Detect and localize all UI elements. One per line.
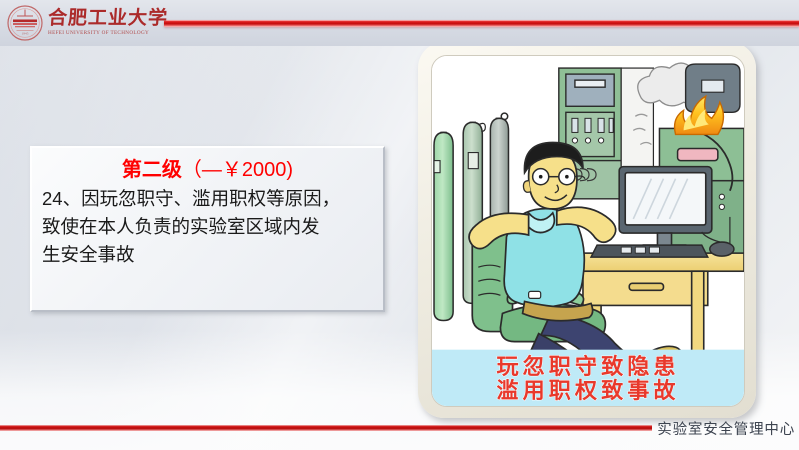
penalty-description-line: 24、因玩忽职守、滥用职权等原因， — [42, 185, 375, 213]
university-name-en: HEFEI UNIVERSITY OF TECHNOLOGY — [48, 31, 168, 36]
penalty-description-line: 致使在本人负责的实验室区域内发 — [42, 213, 375, 241]
slide-canvas: 1945 合肥工业大学 HEFEI UNIVERSITY OF TECHNOLO… — [0, 0, 799, 450]
penalty-amount-label: （—￥2000) — [182, 159, 293, 181]
header-red-rule — [164, 20, 799, 27]
university-logo: 1945 合肥工业大学 HEFEI UNIVERSITY OF TECHNOLO… — [6, 2, 182, 44]
footer-organization-label: 实验室安全管理中心 — [657, 418, 795, 439]
svg-text:1945: 1945 — [22, 32, 29, 36]
penalty-description: 24、因玩忽职守、滥用职权等原因， 致使在本人负责的实验室区域内发 生安全事故 — [40, 185, 375, 269]
illustration-card: 玩忽职守致隐患 滥用职权致事故 — [418, 42, 756, 418]
illustration-frame: 玩忽职守致隐患 滥用职权致事故 — [431, 55, 745, 407]
lab-safety-cartoon-icon: 玩忽职守致隐患 滥用职权致事故 — [432, 56, 744, 406]
footer-red-rule — [0, 425, 652, 431]
penalty-level-label: 第二级 — [122, 159, 182, 181]
penalty-description-line: 生安全事故 — [42, 241, 375, 269]
university-seal-icon: 1945 — [6, 4, 44, 42]
svg-text:玩忽职守致隐患: 玩忽职守致隐患 — [496, 354, 679, 379]
university-name-cn: 合肥工业大学 — [47, 9, 168, 28]
content-text-panel: 第二级（—￥2000) 24、因玩忽职守、滥用职权等原因， 致使在本人负责的实验… — [30, 146, 385, 312]
university-logo-text: 合肥工业大学 HEFEI UNIVERSITY OF TECHNOLOGY — [48, 9, 168, 36]
svg-text:滥用职权致事故: 滥用职权致事故 — [496, 378, 679, 403]
slide-header: 1945 合肥工业大学 HEFEI UNIVERSITY OF TECHNOLO… — [0, 0, 799, 46]
penalty-level-title: 第二级（—￥2000) — [40, 158, 375, 183]
slide-footer: 实验室安全管理中心 — [0, 416, 799, 450]
